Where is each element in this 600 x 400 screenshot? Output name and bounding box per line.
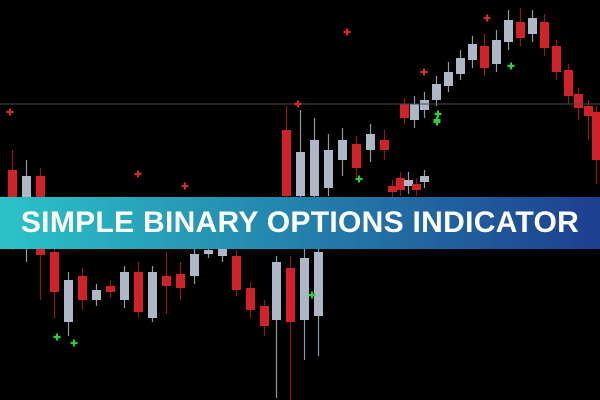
candle-body-bullish xyxy=(314,252,323,316)
candle-body-bullish xyxy=(404,180,413,186)
candle-body-bearish xyxy=(584,106,593,116)
candle-body-bearish xyxy=(388,186,397,192)
candle-body-bearish xyxy=(396,178,405,190)
candle-body-bearish xyxy=(286,268,295,322)
candle-body-bearish xyxy=(176,274,185,288)
candle-body-bullish xyxy=(366,134,375,150)
candle-body-bearish xyxy=(412,184,421,190)
candle-body-bearish xyxy=(552,46,561,72)
candle-body-bullish xyxy=(300,258,309,320)
candle-body-bullish xyxy=(92,290,101,300)
candle-body-bearish xyxy=(246,288,255,310)
candle-body-bullish xyxy=(444,72,453,86)
candle-body-bullish xyxy=(148,272,157,318)
candle-body-bearish xyxy=(282,130,291,196)
candle-body-bullish xyxy=(468,44,477,60)
candle-body-bearish xyxy=(400,104,409,118)
candle-body-bearish xyxy=(50,252,59,292)
indicator-promo-screenshot: SIMPLE BINARY OPTIONS INDICATOR xyxy=(0,0,600,400)
candle-body-bearish xyxy=(106,286,115,292)
candle-body-bullish xyxy=(504,20,513,42)
candle-body-bearish xyxy=(480,46,489,68)
candle-body-bearish xyxy=(162,276,171,286)
candle-body-bullish xyxy=(190,254,199,276)
candle-body-bullish xyxy=(120,272,129,300)
candle-body-bearish xyxy=(78,276,87,300)
candle-body-bullish xyxy=(492,40,501,64)
banner-title: SIMPLE BINARY OPTIONS INDICATOR xyxy=(21,208,579,238)
candle-body-bearish xyxy=(574,94,583,108)
promo-banner: SIMPLE BINARY OPTIONS INDICATOR xyxy=(0,197,600,249)
candle-body-bullish xyxy=(432,84,441,100)
candle-body-bullish xyxy=(410,104,419,120)
candle-body-bullish xyxy=(204,250,213,254)
candle-body-bearish xyxy=(516,22,525,38)
candle-body-bullish xyxy=(324,150,333,188)
candle-body-bullish xyxy=(218,248,227,256)
candle-body-bearish xyxy=(134,272,143,312)
candle-body-bullish xyxy=(310,140,319,196)
candle-body-bullish xyxy=(338,140,347,160)
candle-body-bullish xyxy=(296,152,305,196)
candle-body-bearish xyxy=(260,306,269,326)
candle-body-bearish xyxy=(564,70,573,96)
candle-body-bearish xyxy=(232,256,241,290)
candle-body-bearish xyxy=(540,22,549,48)
candle-body-bearish xyxy=(380,140,389,150)
candle-body-bullish xyxy=(272,262,281,320)
candle-body-bullish xyxy=(420,100,429,110)
candle-body-bullish xyxy=(456,58,465,74)
candle-body-bullish xyxy=(420,176,429,182)
candle-body-bullish xyxy=(64,280,73,322)
candle-body-bullish xyxy=(528,18,537,34)
candle-body-bearish xyxy=(592,112,600,160)
candle-body-bearish xyxy=(352,144,361,168)
